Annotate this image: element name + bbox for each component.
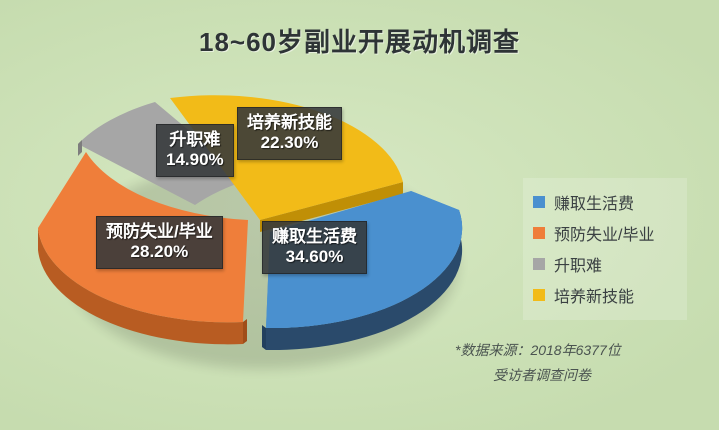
legend-item-0[interactable]: 赚取生活费	[533, 186, 677, 217]
legend-swatch-icon-1	[533, 227, 545, 239]
legend-item-1[interactable]: 预防失业/毕业	[533, 217, 677, 248]
pie-label-gray-name: 升职难	[166, 130, 224, 150]
legend-label-3: 培养新技能	[554, 283, 634, 307]
source-footnote-line1: *数据来源：2018年6377位	[455, 342, 621, 358]
legend-swatch-icon-2	[533, 258, 545, 270]
legend-label-1: 预防失业/毕业	[554, 221, 654, 245]
legend-label-0: 赚取生活费	[554, 190, 634, 214]
pie-label-yellow: 培养新技能 22.30%	[237, 107, 342, 160]
pie-slice-orange-edge	[243, 319, 247, 344]
legend-item-2[interactable]: 升职难	[533, 248, 677, 279]
pie-label-blue: 赚取生活费 34.60%	[262, 221, 367, 274]
pie-label-gray-value: 14.90%	[166, 150, 224, 170]
pie-label-yellow-value: 22.30%	[247, 133, 332, 153]
pie-label-blue-value: 34.60%	[272, 247, 357, 267]
source-footnote-line2: 受访者调查问卷	[455, 363, 705, 388]
pie-slice-blue-edge	[262, 325, 266, 350]
chart-legend: 赚取生活费 预防失业/毕业 升职难 培养新技能	[523, 178, 687, 320]
pie-label-orange: 预防失业/毕业 28.20%	[96, 216, 223, 269]
source-footnote: *数据来源：2018年6377位 受访者调查问卷	[455, 338, 705, 387]
legend-label-2: 升职难	[554, 252, 602, 276]
pie-label-orange-name: 预防失业/毕业	[106, 222, 213, 242]
pie-slice-gray-side	[78, 140, 82, 156]
page-title: 18~60岁副业开展动机调查	[0, 22, 719, 59]
pie-label-orange-value: 28.20%	[106, 242, 213, 262]
pie-label-gray: 升职难 14.90%	[156, 124, 234, 177]
chart-canvas: 18~60岁副业开展动机调查	[0, 0, 719, 430]
legend-swatch-icon-3	[533, 289, 545, 301]
legend-swatch-icon-0	[533, 196, 545, 208]
legend-item-3[interactable]: 培养新技能	[533, 279, 677, 310]
pie-label-yellow-name: 培养新技能	[247, 113, 332, 133]
pie-label-blue-name: 赚取生活费	[272, 227, 357, 247]
